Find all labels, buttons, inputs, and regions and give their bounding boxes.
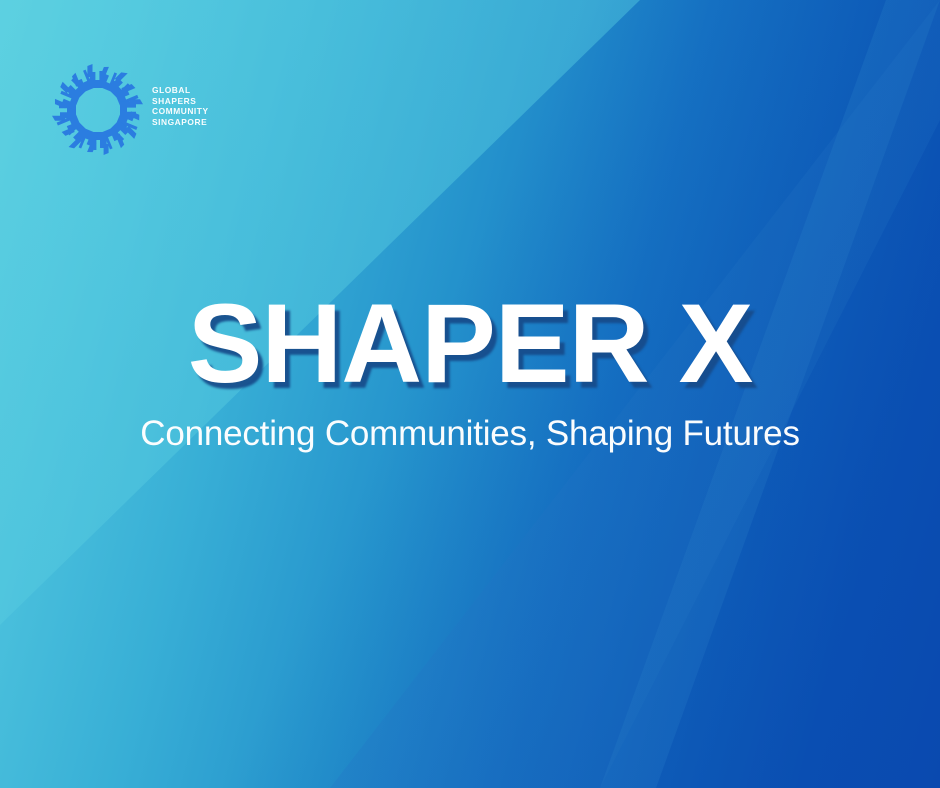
logo-wordmark-line-3: COMMUNITY [152,106,209,117]
logo-wordmark-line-1: GLOBAL [152,85,209,96]
poster-subtitle: Connecting Communities, Shaping Futures [0,413,940,455]
logo-wordmark-line-2: SHAPERS [152,96,209,107]
global-shapers-circle-mark [46,56,150,164]
logo-wordmark-line-4: SINGAPORE [152,117,209,128]
global-shapers-logo: GLOBAL SHAPERS COMMUNITY SINGAPORE [46,54,346,166]
logo-wordmark: GLOBAL SHAPERS COMMUNITY SINGAPORE [152,85,209,127]
poster-canvas: GLOBAL SHAPERS COMMUNITY SINGAPORE SHAPE… [0,0,940,788]
poster-headline: SHAPER X [0,288,940,400]
